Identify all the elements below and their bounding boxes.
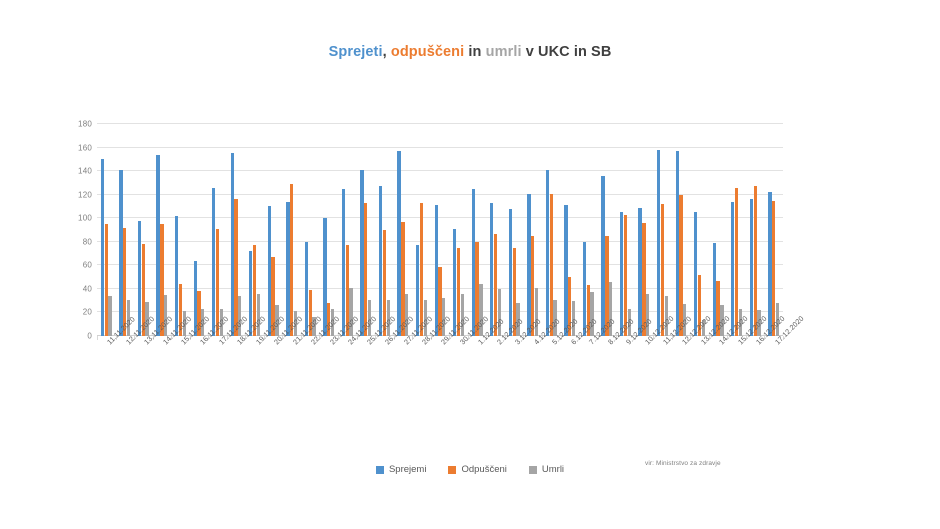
title-segment-1: , xyxy=(383,44,391,60)
title-segment-0: Sprejeti xyxy=(329,44,383,60)
bar-sprejemi[interactable] xyxy=(360,170,363,336)
y-axis-labels: 020406080100120140160180 xyxy=(60,124,92,336)
bar-umrli[interactable] xyxy=(108,296,111,336)
bar-sprejemi[interactable] xyxy=(156,155,159,336)
bar-group[interactable] xyxy=(412,124,431,336)
bar-group[interactable] xyxy=(431,124,450,336)
bar-sprejemi[interactable] xyxy=(379,186,382,336)
bar-group[interactable] xyxy=(505,124,524,336)
bar-sprejemi[interactable] xyxy=(694,212,697,336)
source-note: vir: Ministrstvo za zdravje xyxy=(645,460,721,467)
bar-sprejemi[interactable] xyxy=(397,151,400,336)
y-tick-label: 120 xyxy=(78,190,92,199)
title-segment-5: v UKC in SB xyxy=(522,44,612,60)
bar-sprejemi[interactable] xyxy=(175,216,178,336)
bar-sprejemi[interactable] xyxy=(231,153,234,336)
legend-swatch-icon xyxy=(448,466,456,474)
bar-sprejemi[interactable] xyxy=(657,150,660,336)
bar-group[interactable] xyxy=(338,124,357,336)
bar-group[interactable] xyxy=(449,124,468,336)
bar-group[interactable] xyxy=(357,124,376,336)
y-tick-label: 0 xyxy=(87,332,92,341)
bar-group[interactable] xyxy=(690,124,709,336)
bar-sprejemi[interactable] xyxy=(453,229,456,336)
x-axis-labels: 11.11.202012.11.202013.11.202014.11.2020… xyxy=(97,340,783,400)
chart-title: Sprejeti, odpuščeni in umrli v UKC in SB xyxy=(0,44,940,60)
bar-sprejemi[interactable] xyxy=(527,194,530,337)
bar-odpusceni[interactable] xyxy=(661,204,664,336)
bar-group[interactable] xyxy=(116,124,135,336)
bar-group[interactable] xyxy=(264,124,283,336)
bar-sprejemi[interactable] xyxy=(620,212,623,336)
bar-group[interactable] xyxy=(523,124,542,336)
bar-group[interactable] xyxy=(245,124,264,336)
bar-group[interactable] xyxy=(97,124,116,336)
bar-odpusceni[interactable] xyxy=(290,184,293,336)
y-tick-label: 160 xyxy=(78,143,92,152)
bar-sprejemi[interactable] xyxy=(286,202,289,336)
bar-sprejemi[interactable] xyxy=(768,192,771,336)
bar-group[interactable] xyxy=(635,124,654,336)
title-segment-4: umrli xyxy=(486,44,522,60)
legend-item-odpuščeni[interactable]: Odpuščeni xyxy=(448,464,506,475)
bar-group[interactable] xyxy=(208,124,227,336)
bar-sprejemi[interactable] xyxy=(564,205,567,336)
title-segment-3: in xyxy=(464,44,485,60)
bars-layer xyxy=(97,124,783,336)
plot-area xyxy=(97,124,783,336)
bar-group[interactable] xyxy=(301,124,320,336)
bar-odpusceni[interactable] xyxy=(735,188,738,336)
legend-swatch-icon xyxy=(529,466,537,474)
y-tick-label: 100 xyxy=(78,214,92,223)
bar-sprejemi[interactable] xyxy=(490,203,493,336)
bar-group[interactable] xyxy=(542,124,561,336)
bar-group[interactable] xyxy=(394,124,413,336)
bar-sprejemi[interactable] xyxy=(509,209,512,336)
y-tick-label: 40 xyxy=(83,284,92,293)
bar-group[interactable] xyxy=(486,124,505,336)
bar-group[interactable] xyxy=(764,124,783,336)
bar-odpusceni[interactable] xyxy=(772,201,775,336)
bar-sprejemi[interactable] xyxy=(212,188,215,336)
bar-sprejemi[interactable] xyxy=(342,189,345,336)
y-tick-label: 60 xyxy=(83,261,92,270)
bar-sprejemi[interactable] xyxy=(731,202,734,336)
legend-swatch-icon xyxy=(376,466,384,474)
bar-odpusceni[interactable] xyxy=(364,203,367,336)
bar-group[interactable] xyxy=(709,124,728,336)
bar-group[interactable] xyxy=(319,124,338,336)
bar-sprejemi[interactable] xyxy=(435,205,438,336)
bar-sprejemi[interactable] xyxy=(750,199,753,336)
bar-sprejemi[interactable] xyxy=(601,176,604,336)
legend-label: Sprejemi xyxy=(389,464,427,475)
bar-sprejemi[interactable] xyxy=(323,218,326,336)
bar-group[interactable] xyxy=(579,124,598,336)
chart-legend: SprejemiOdpuščeniUmrli xyxy=(0,464,940,475)
bar-group[interactable] xyxy=(746,124,765,336)
bar-group[interactable] xyxy=(598,124,617,336)
bar-sprejemi[interactable] xyxy=(119,170,122,336)
bar-group[interactable] xyxy=(375,124,394,336)
bar-group[interactable] xyxy=(653,124,672,336)
legend-item-sprejemi[interactable]: Sprejemi xyxy=(376,464,427,475)
bar-sprejemi[interactable] xyxy=(676,151,679,336)
bar-group[interactable] xyxy=(468,124,487,336)
bar-odpusceni[interactable] xyxy=(679,195,682,336)
bar-sprejemi[interactable] xyxy=(546,170,549,336)
bar-group[interactable] xyxy=(561,124,580,336)
y-tick-label: 80 xyxy=(83,237,92,246)
bar-odpusceni[interactable] xyxy=(234,199,237,336)
legend-item-umrli[interactable]: Umrli xyxy=(529,464,564,475)
bar-group[interactable] xyxy=(171,124,190,336)
bar-sprejemi[interactable] xyxy=(638,208,641,336)
bar-sprejemi[interactable] xyxy=(268,206,271,336)
y-tick-label: 140 xyxy=(78,167,92,176)
bar-sprejemi[interactable] xyxy=(101,159,104,336)
legend-label: Odpuščeni xyxy=(461,464,506,475)
bar-odpusceni[interactable] xyxy=(420,203,423,336)
legend-label: Umrli xyxy=(542,464,564,475)
title-segment-2: odpuščeni xyxy=(391,44,464,60)
y-tick-label: 180 xyxy=(78,120,92,129)
bar-group[interactable] xyxy=(672,124,691,336)
y-tick-label: 20 xyxy=(83,308,92,317)
bar-group[interactable] xyxy=(727,124,746,336)
bar-sprejemi[interactable] xyxy=(472,189,475,336)
bar-group[interactable] xyxy=(282,124,301,336)
bar-group[interactable] xyxy=(190,124,209,336)
bar-odpusceni[interactable] xyxy=(105,224,108,336)
bar-odpusceni[interactable] xyxy=(754,186,757,336)
bar-group[interactable] xyxy=(616,124,635,336)
bar-group[interactable] xyxy=(153,124,172,336)
bar-group[interactable] xyxy=(134,124,153,336)
bar-group[interactable] xyxy=(227,124,246,336)
bar-sprejemi[interactable] xyxy=(138,221,141,336)
chart-container: Sprejeti, odpuščeni in umrli v UKC in SB… xyxy=(0,0,940,529)
bar-odpusceni[interactable] xyxy=(550,194,553,337)
